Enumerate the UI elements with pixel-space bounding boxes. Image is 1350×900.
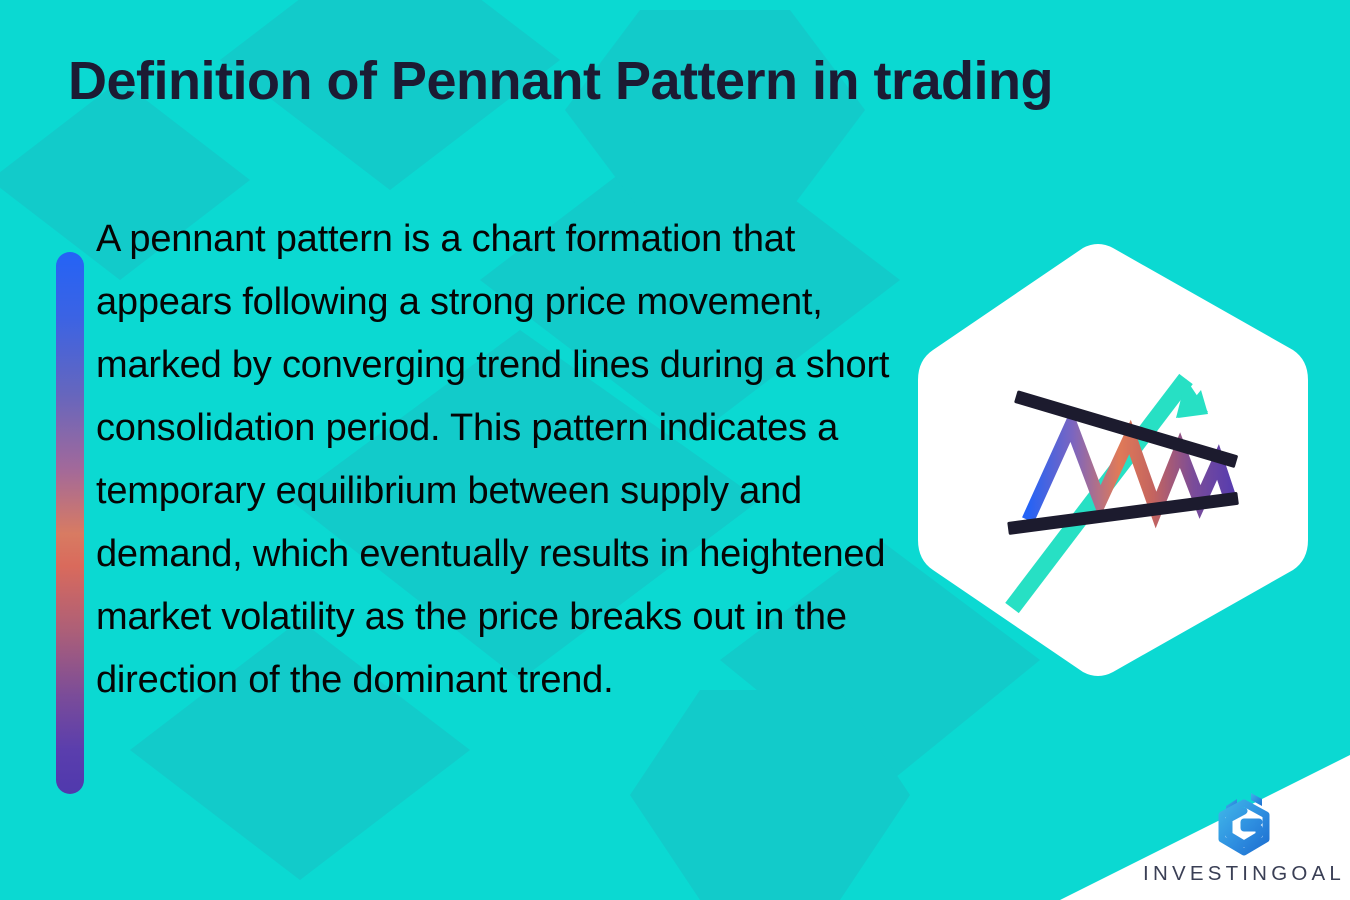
pennant-pattern-icon [908, 240, 1318, 680]
infographic-canvas: Definition of Pennant Pattern in trading… [0, 0, 1350, 900]
bg-hex-2 [630, 690, 910, 900]
page-title: Definition of Pennant Pattern in trading [68, 52, 1308, 111]
brand-wordmark: INVESTINGOAL [1143, 862, 1345, 886]
investingoal-hex-g-icon [1213, 790, 1275, 856]
accent-bar [56, 252, 84, 794]
body-paragraph: A pennant pattern is a chart formation t… [96, 208, 926, 712]
brand-logo[interactable]: INVESTINGOAL [1144, 764, 1344, 886]
